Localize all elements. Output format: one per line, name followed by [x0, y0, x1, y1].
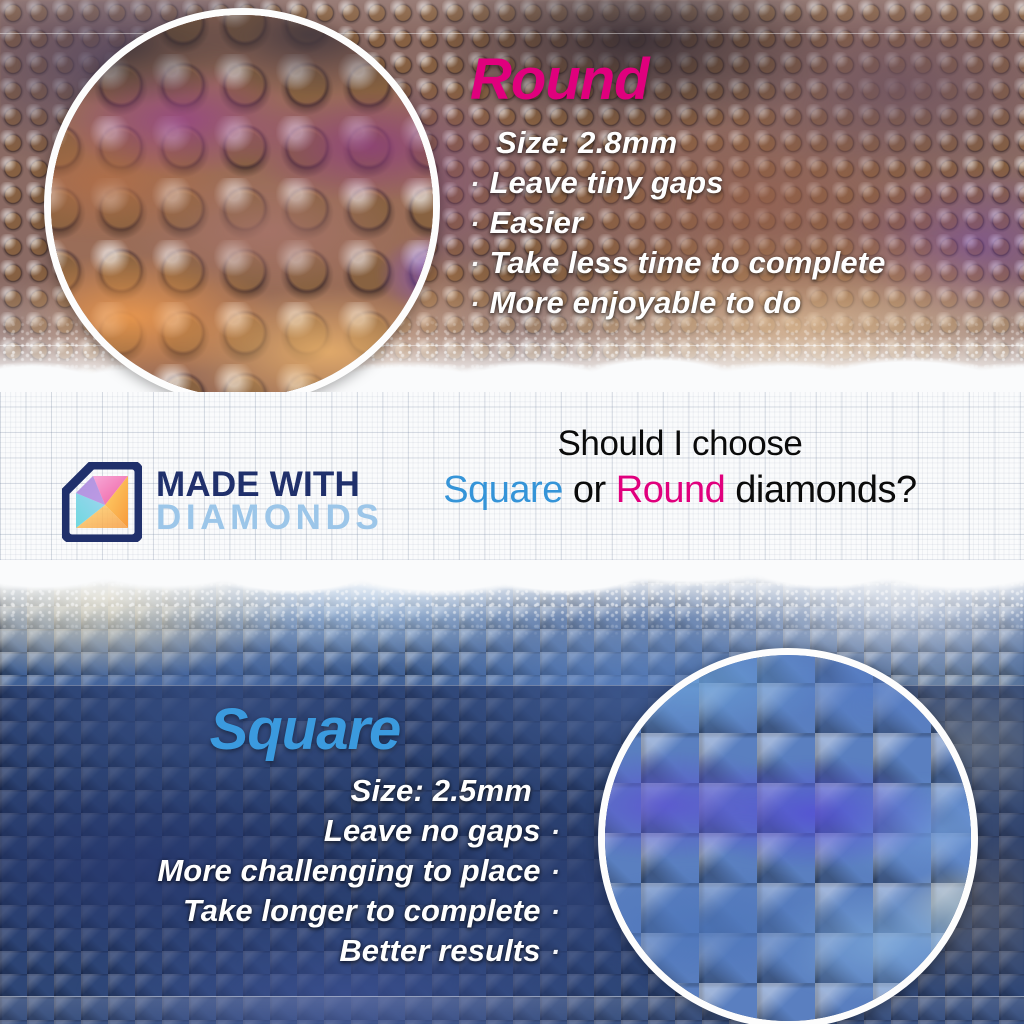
round-panel: Round Size: 2.8mm · Leave tiny gaps · Ea… — [0, 0, 1024, 392]
brand-name-line2: DIAMONDS — [156, 502, 383, 535]
round-bullet-item: · Easier — [470, 205, 1000, 241]
bullet-marker-icon: · — [551, 858, 560, 886]
round-bullet-item: · Leave tiny gaps — [470, 165, 1000, 201]
square-bullet-label: Better results — [339, 933, 540, 969]
square-bullet-item: Better results · — [40, 933, 560, 969]
bullet-marker-icon: · — [551, 898, 560, 926]
round-bullet-item: · Take less time to complete — [470, 245, 1000, 281]
square-closeup-colors — [598, 648, 978, 1024]
headline-line-1: Should I choose — [420, 424, 940, 465]
headline-conjunction: or — [563, 469, 616, 511]
square-bullet-item: More challenging to place · — [40, 853, 560, 889]
round-bullet-item: · More enjoyable to do — [470, 285, 1000, 321]
square-panel: Square Size: 2.5mm Leave no gaps · More … — [0, 560, 1024, 1024]
headline-question: Should I choose Square or Round diamonds… — [420, 424, 940, 512]
round-text-block: Round Size: 2.8mm · Leave tiny gaps · Ea… — [470, 46, 1000, 321]
round-title: Round — [470, 46, 1000, 113]
square-title-text: Square — [210, 697, 401, 762]
headline-line-2: Square or Round diamonds? — [420, 468, 940, 512]
square-bullet-label: Take longer to complete — [183, 893, 541, 929]
round-closeup-inset — [44, 8, 440, 392]
round-bullet-label: More enjoyable to do — [489, 285, 801, 321]
infographic-canvas: Round Size: 2.8mm · Leave tiny gaps · Ea… — [0, 0, 1024, 1024]
bullet-marker-icon: · — [470, 290, 479, 318]
square-bullet-label: More challenging to place — [157, 853, 540, 889]
bullet-marker-icon: · — [470, 250, 479, 278]
round-bullet-label: Easier — [489, 205, 583, 241]
bullet-marker-icon: · — [470, 170, 479, 198]
bullet-marker-icon: · — [551, 818, 560, 846]
square-bullet-item: Leave no gaps · — [40, 813, 560, 849]
brand-logo[interactable]: MADE WITH DIAMONDS — [62, 462, 383, 542]
brand-wordmark: MADE WITH DIAMONDS — [156, 469, 383, 535]
square-size-label: Size: 2.5mm — [40, 773, 532, 809]
square-bullet-item: Take longer to complete · — [40, 893, 560, 929]
headline-suffix: diamonds? — [725, 469, 916, 511]
square-title: Square — [50, 696, 560, 763]
square-text-block: Square Size: 2.5mm Leave no gaps · More … — [40, 696, 560, 969]
diamond-gem-icon — [62, 462, 142, 542]
round-title-text: Round — [470, 47, 649, 112]
keyword-round: Round — [616, 469, 725, 511]
square-closeup-inset — [598, 648, 978, 1024]
bullet-marker-icon: · — [470, 210, 479, 238]
square-bullet-label: Leave no gaps — [324, 813, 541, 849]
round-closeup-colors — [44, 8, 440, 392]
round-bullet-label: Leave tiny gaps — [489, 165, 723, 201]
round-size-label: Size: 2.8mm — [496, 125, 1000, 161]
round-bullet-label: Take less time to complete — [489, 245, 885, 281]
bullet-marker-icon: · — [551, 938, 560, 966]
keyword-square: Square — [443, 469, 563, 511]
